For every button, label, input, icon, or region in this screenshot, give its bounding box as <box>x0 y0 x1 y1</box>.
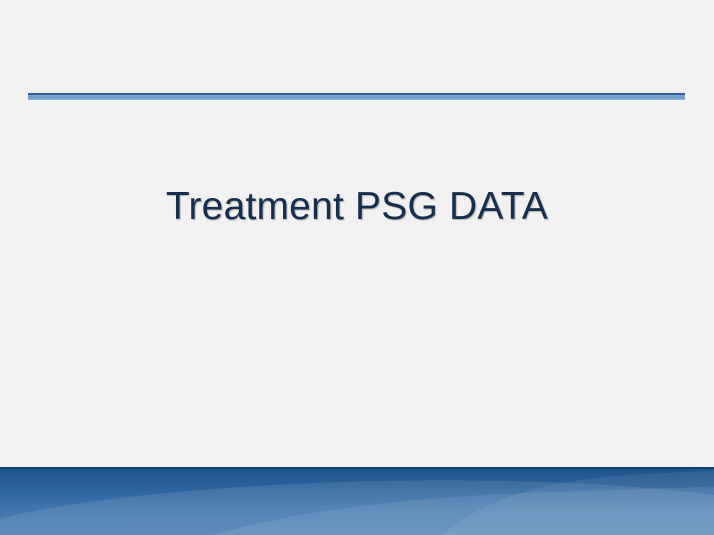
band-top-edge <box>0 467 714 469</box>
slide-title: Treatment PSG DATA <box>0 185 714 229</box>
title-divider-rule <box>28 93 685 101</box>
slide-footer-band <box>0 467 714 535</box>
divider-thick-line <box>28 95 685 100</box>
presentation-slide: Treatment PSG DATA <box>0 0 714 535</box>
